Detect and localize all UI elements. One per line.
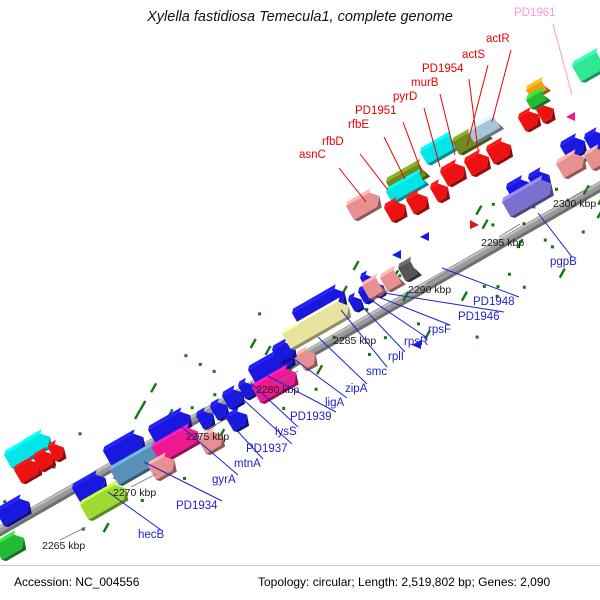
gene-feature[interactable] bbox=[570, 48, 600, 85]
strand-arrow bbox=[566, 112, 575, 121]
gene-label[interactable]: pgpB bbox=[550, 256, 577, 268]
gene-label[interactable]: PD1946 bbox=[458, 311, 500, 323]
gene-label[interactable]: PD1954 bbox=[422, 63, 464, 75]
gene-label[interactable]: smc bbox=[366, 366, 387, 378]
strand-arrow bbox=[470, 220, 479, 229]
gene-label[interactable]: actR bbox=[486, 33, 510, 45]
gene-label-leader-line bbox=[553, 24, 572, 95]
gene-label[interactable]: rfbE bbox=[348, 119, 369, 131]
scale-marker-label: 2290 kbp bbox=[408, 284, 451, 296]
gene-label[interactable]: zipA bbox=[345, 383, 368, 395]
gene-label[interactable]: murB bbox=[411, 77, 439, 89]
footer-bar: Accession: NC_004556 Topology: circular;… bbox=[0, 565, 600, 600]
topology-label: Topology: circular; Length: 2,519,802 bp… bbox=[258, 575, 550, 589]
gene-label[interactable]: lysS bbox=[275, 426, 297, 438]
gene-label[interactable]: ligA bbox=[325, 397, 345, 409]
page-title: Xylella fastidiosa Temecula1, complete g… bbox=[146, 9, 453, 25]
gene-label[interactable]: actS bbox=[462, 49, 485, 61]
gene-label-leader-line bbox=[538, 213, 572, 257]
gene-label[interactable]: rplI bbox=[388, 351, 404, 363]
gene-label[interactable]: pyrD bbox=[393, 91, 417, 103]
gene-label-leader-line bbox=[339, 168, 366, 202]
gene-label[interactable]: PD1951 bbox=[355, 105, 397, 117]
scale-marker-label: 2270 kbp bbox=[113, 487, 156, 499]
gene-label[interactable]: rpsR bbox=[404, 336, 428, 348]
gene-label[interactable]: PD1948 bbox=[473, 296, 515, 308]
gene-feature[interactable] bbox=[224, 405, 252, 434]
scale-marker-label: 2295 kbp bbox=[481, 237, 524, 249]
gene-label[interactable]: PD1939 bbox=[290, 411, 332, 423]
genome-map-canvas: Xylella fastidiosa Temecula1, complete g… bbox=[0, 0, 600, 600]
accession-label: Accession: NC_004556 bbox=[14, 575, 139, 589]
gene-labels-layer[interactable]: asnCrfbDrfbEPD1951pyrDmurBPD1954actSactR… bbox=[108, 7, 577, 541]
strand-arrow bbox=[420, 232, 429, 241]
scale-leader-line bbox=[60, 527, 86, 540]
gene-label[interactable]: asnC bbox=[299, 149, 326, 161]
gene-label[interactable]: rpsF bbox=[428, 324, 451, 336]
gene-label[interactable]: PD1937 bbox=[246, 443, 288, 455]
scale-marker-label: 2265 kbp bbox=[42, 540, 85, 552]
gene-label[interactable]: gyrA bbox=[212, 474, 236, 486]
strand-arrow bbox=[392, 250, 401, 259]
gene-label-leader-line bbox=[360, 154, 388, 190]
gene-label[interactable]: PD1961 bbox=[514, 7, 556, 19]
gene-label-leader-line bbox=[384, 137, 405, 179]
gene-label[interactable]: PD1934 bbox=[176, 500, 218, 512]
gene-label-leader-line bbox=[442, 268, 519, 297]
gene-feature[interactable] bbox=[344, 186, 385, 222]
genome-map-svg: Xylella fastidiosa Temecula1, complete g… bbox=[0, 0, 600, 600]
scale-marker-label: 2300 kbp bbox=[553, 198, 596, 210]
gene-label[interactable]: rfbD bbox=[322, 136, 344, 148]
scale-marker-label: 2275 kbp bbox=[186, 431, 229, 443]
gene-label[interactable]: hecB bbox=[138, 529, 165, 541]
gene-label-leader-line bbox=[492, 50, 511, 122]
gene-label[interactable]: mtnA bbox=[234, 458, 261, 470]
